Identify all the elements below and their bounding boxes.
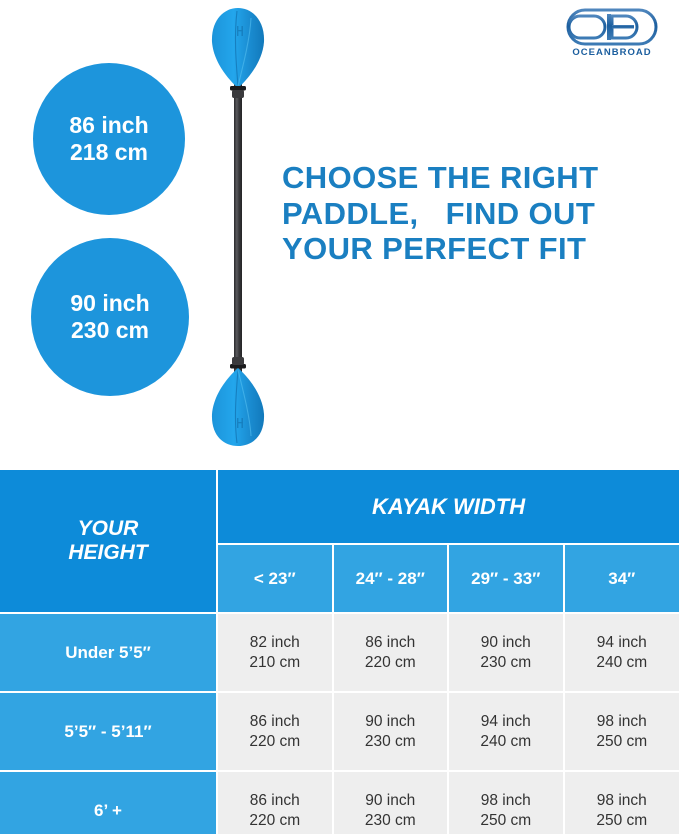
column-header-1: 24″ - 28″	[333, 544, 449, 613]
cell-inch: 82 inch	[218, 633, 332, 653]
cell-cm: 220 cm	[218, 732, 332, 752]
cell-inch: 86 inch	[218, 791, 332, 811]
headline-line-3: YOUR PERFECT FIT	[282, 231, 662, 267]
cell-cm: 220 cm	[218, 811, 332, 831]
cell-2-2: 98 inch 250 cm	[448, 771, 564, 834]
cell-1-0: 86 inch 220 cm	[217, 692, 333, 771]
your-height-line-2: HEIGHT	[68, 541, 147, 564]
cell-cm: 220 cm	[334, 653, 448, 673]
cell-0-2: 90 inch 230 cm	[448, 613, 564, 692]
cell-inch: 90 inch	[449, 633, 563, 653]
table-header-row-group: YOUR HEIGHT KAYAK WIDTH	[0, 470, 679, 544]
your-height-line-1: YOUR	[78, 517, 139, 540]
cell-2-0: 86 inch 220 cm	[217, 771, 333, 834]
cell-inch: 86 inch	[334, 633, 448, 653]
cell-cm: 210 cm	[218, 653, 332, 673]
ob-monogram-icon	[566, 8, 658, 46]
column-header-3: 34″	[564, 544, 679, 613]
page-title: CHOOSE THE RIGHT PADDLE, FIND OUT YOUR P…	[282, 160, 662, 267]
badge-inch-value: 86 inch	[69, 112, 148, 139]
headline-line-2: PADDLE, FIND OUT	[282, 196, 662, 232]
cell-cm: 250 cm	[565, 732, 679, 752]
badge-cm-value: 230 cm	[71, 317, 149, 344]
cell-0-0: 82 inch 210 cm	[217, 613, 333, 692]
cell-inch: 90 inch	[334, 712, 448, 732]
cell-inch: 98 inch	[449, 791, 563, 811]
row-header-0: Under 5’5″	[0, 613, 217, 692]
badge-inch-value: 90 inch	[70, 290, 149, 317]
cell-1-1: 90 inch 230 cm	[333, 692, 449, 771]
cell-inch: 94 inch	[565, 633, 679, 653]
cell-cm: 230 cm	[334, 732, 448, 752]
column-header-0: < 23″	[217, 544, 333, 613]
row-header-1: 5’5″ - 5’11″	[0, 692, 217, 771]
cell-1-3: 98 inch 250 cm	[564, 692, 679, 771]
size-badge-86-inch: 86 inch 218 cm	[33, 63, 185, 215]
cell-cm: 230 cm	[449, 653, 563, 673]
cell-cm: 240 cm	[449, 732, 563, 752]
table-row: Under 5’5″ 82 inch 210 cm 86 inch 220 cm…	[0, 613, 679, 692]
table-row: 5’5″ - 5’11″ 86 inch 220 cm 90 inch 230 …	[0, 692, 679, 771]
table-row: 6’ + 86 inch 220 cm 90 inch 230 cm 98 in…	[0, 771, 679, 834]
your-height-header: YOUR HEIGHT	[0, 470, 217, 613]
cell-cm: 230 cm	[334, 811, 448, 831]
cell-2-1: 90 inch 230 cm	[333, 771, 449, 834]
brand-name: OCEANBROAD	[572, 47, 651, 58]
size-badge-90-inch: 90 inch 230 cm	[31, 238, 189, 396]
kayak-paddle-icon	[196, 6, 280, 448]
column-header-2: 29″ - 33″	[448, 544, 564, 613]
size-chart-table: YOUR HEIGHT KAYAK WIDTH < 23″ 24″ - 28″ …	[0, 470, 679, 834]
brand-logo: OCEANBROAD	[560, 8, 664, 64]
cell-inch: 86 inch	[218, 712, 332, 732]
badge-cm-value: 218 cm	[70, 139, 148, 166]
cell-inch: 94 inch	[449, 712, 563, 732]
cell-inch: 98 inch	[565, 712, 679, 732]
kayak-width-header: KAYAK WIDTH	[217, 470, 679, 544]
cell-cm: 250 cm	[449, 811, 563, 831]
row-header-2: 6’ +	[0, 771, 217, 834]
cell-cm: 240 cm	[565, 653, 679, 673]
paddle-size-chart-page: OCEANBROAD 86 inch 218 cm 90 inch 230 cm	[0, 0, 679, 834]
cell-inch: 98 inch	[565, 791, 679, 811]
cell-0-3: 94 inch 240 cm	[564, 613, 679, 692]
cell-cm: 250 cm	[565, 811, 679, 831]
cell-1-2: 94 inch 240 cm	[448, 692, 564, 771]
cell-2-3: 98 inch 250 cm	[564, 771, 679, 834]
headline-line-1: CHOOSE THE RIGHT	[282, 160, 662, 196]
cell-0-1: 86 inch 220 cm	[333, 613, 449, 692]
size-chart: YOUR HEIGHT KAYAK WIDTH < 23″ 24″ - 28″ …	[0, 470, 679, 834]
cell-inch: 90 inch	[334, 791, 448, 811]
